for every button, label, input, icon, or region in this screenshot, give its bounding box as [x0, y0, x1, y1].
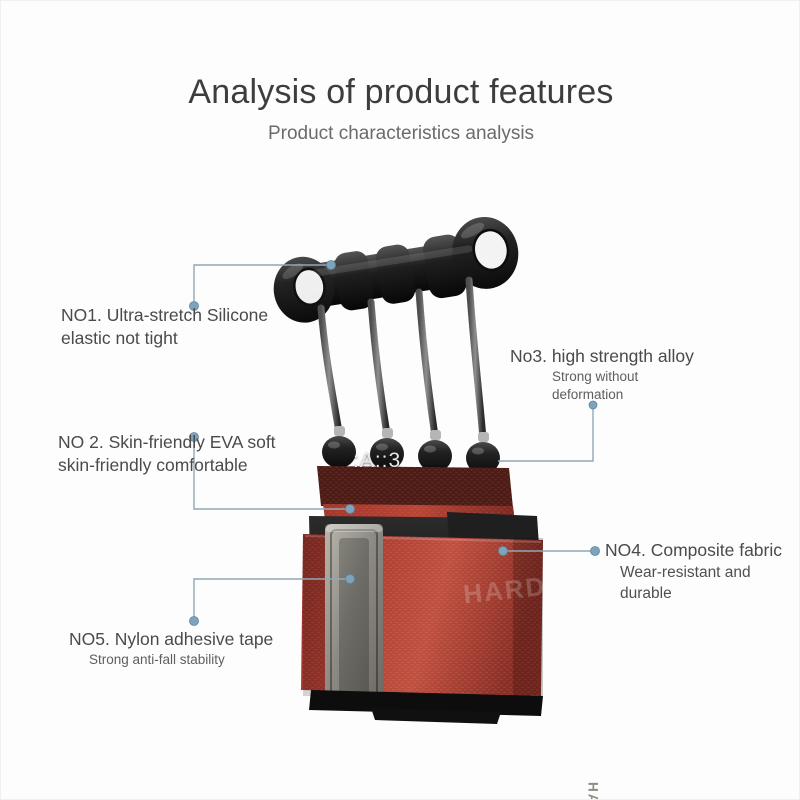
- annotation-no2-heading-line2: skin-friendly comfortable: [58, 454, 328, 477]
- annotation-no3-sub-line2: deformation: [510, 386, 760, 404]
- annotation-no4-sub: Wear-resistant and durable: [605, 562, 795, 604]
- annotation-no4-heading: NO4. Composite fabric: [605, 539, 795, 562]
- annotation-no3-sub-line1: Strong without: [510, 368, 760, 386]
- annotation-no5-sub: Strong anti-fall stability: [69, 651, 309, 669]
- page-title: Analysis of product features: [1, 73, 800, 112]
- annotation-no5-heading: NO5. Nylon adhesive tape: [69, 628, 309, 651]
- product-feature-infographic: Analysis of product features Product cha…: [0, 0, 800, 800]
- leader-dot-no5-label: [190, 617, 199, 626]
- annotation-no5: NO5. Nylon adhesive tape Strong anti-fal…: [69, 628, 309, 669]
- annotation-no4: NO4. Composite fabric Wear-resistant and…: [605, 539, 795, 604]
- annotation-no2: NO 2. Skin-friendly EVA soft skin-friend…: [58, 431, 328, 477]
- annotation-no1: NO1. Ultra-stretch Silicone elastic not …: [61, 304, 321, 350]
- annotation-no1-heading-line1: NO1. Ultra-stretch Silicone: [61, 304, 321, 327]
- buckle-hardness-label: HARDNESS: [582, 743, 604, 800]
- annotation-no3-heading: No3. high strength alloy: [510, 345, 760, 368]
- leader-dot-no4-label: [591, 547, 600, 556]
- annotation-no1-heading-line2: elastic not tight: [61, 327, 321, 350]
- annotation-no3: No3. high strength alloy Strong without …: [510, 345, 760, 404]
- annotation-no2-heading-line1: NO 2. Skin-friendly EVA soft: [58, 431, 328, 454]
- overlay-code-text: :A::3: [353, 449, 401, 473]
- page-subtitle: Product characteristics analysis: [1, 123, 800, 145]
